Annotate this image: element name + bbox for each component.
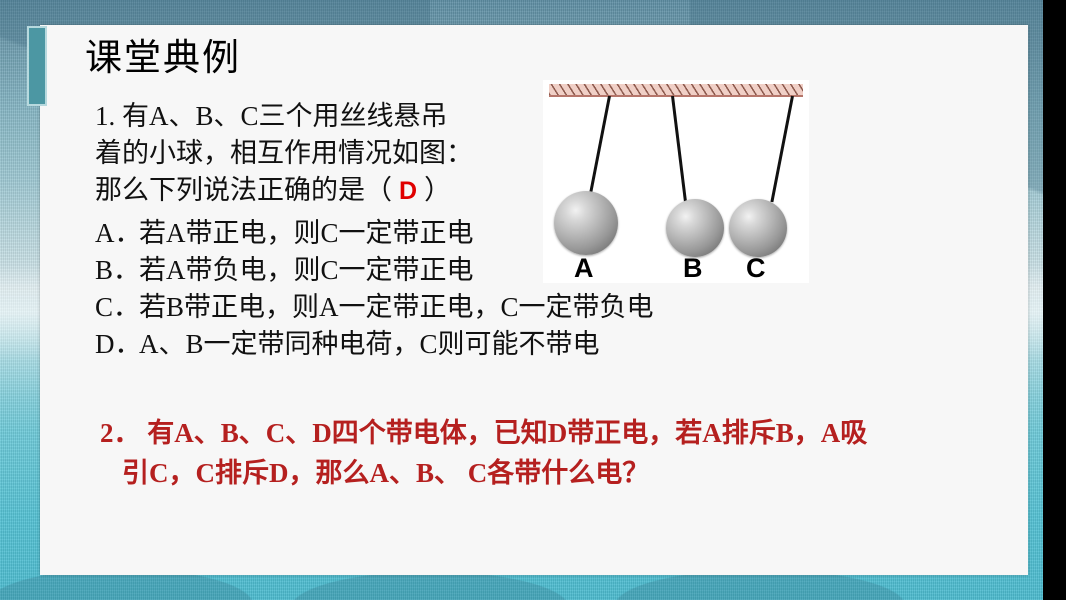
string-c xyxy=(770,96,794,203)
ball-b xyxy=(666,199,724,257)
ball-c xyxy=(729,199,787,257)
option-c: C．若B带正电，则A一定带正电，C一定带负电 xyxy=(95,289,654,326)
ball-label-c: C xyxy=(746,253,766,284)
question1-stem-line-2: 着的小球，相互作用情况如图： xyxy=(95,135,565,172)
ball-a xyxy=(554,191,618,255)
question1-stem-line-1: 1. 有A、B、C三个用丝线悬吊 xyxy=(95,98,565,135)
option-a-key: A． xyxy=(95,215,139,252)
option-d: D．A、B一定带同种电荷，C则可能不带电 xyxy=(95,326,654,363)
question1-stem: 1. 有A、B、C三个用丝线悬吊 着的小球，相互作用情况如图： 那么下列说法正确… xyxy=(95,98,565,209)
ceiling-hatch-icon xyxy=(549,84,803,97)
option-b-text: 若A带负电，则C一定带正电 xyxy=(139,255,474,285)
question1-stem-line-3-text: 那么下列说法正确的是（ xyxy=(95,175,392,205)
question2: 2． 有A、B、C、D四个带电体，已知D带正电，若A排斥B，A吸 引C，C排斥D… xyxy=(100,413,867,493)
string-a xyxy=(589,96,611,197)
option-d-text: A、B一定带同种电荷，C则可能不带电 xyxy=(139,329,600,359)
ball-label-a: A xyxy=(574,253,594,284)
question2-line-1: 2． 有A、B、C、D四个带电体，已知D带正电，若A排斥B，A吸 xyxy=(100,413,867,453)
title-accent-bar xyxy=(27,26,47,106)
question1-stem-line-3-tail: ） xyxy=(424,175,451,205)
page-title: 课堂典例 xyxy=(85,36,241,82)
ball-label-b: B xyxy=(683,253,703,284)
question1-stem-line-3: 那么下列说法正确的是（D） xyxy=(95,172,565,209)
option-c-text: 若B带正电，则A一定带正电，C一定带负电 xyxy=(139,292,654,322)
option-b-key: B． xyxy=(95,252,139,289)
option-c-key: C． xyxy=(95,289,139,326)
question1-answer-mark: D xyxy=(392,177,424,205)
string-b xyxy=(671,96,687,204)
option-a-text: 若A带正电，则C一定带正电 xyxy=(139,218,474,248)
right-black-margin xyxy=(1043,0,1066,600)
pendulum-figure: A B C xyxy=(543,80,809,283)
question2-line-2: 引C，C排斥D，那么A、B、 C各带什么电？ xyxy=(100,453,867,493)
option-d-key: D． xyxy=(95,326,139,363)
slide-root: 课堂典例 1. 有A、B、C三个用丝线悬吊 着的小球，相互作用情况如图： 那么下… xyxy=(0,0,1066,600)
